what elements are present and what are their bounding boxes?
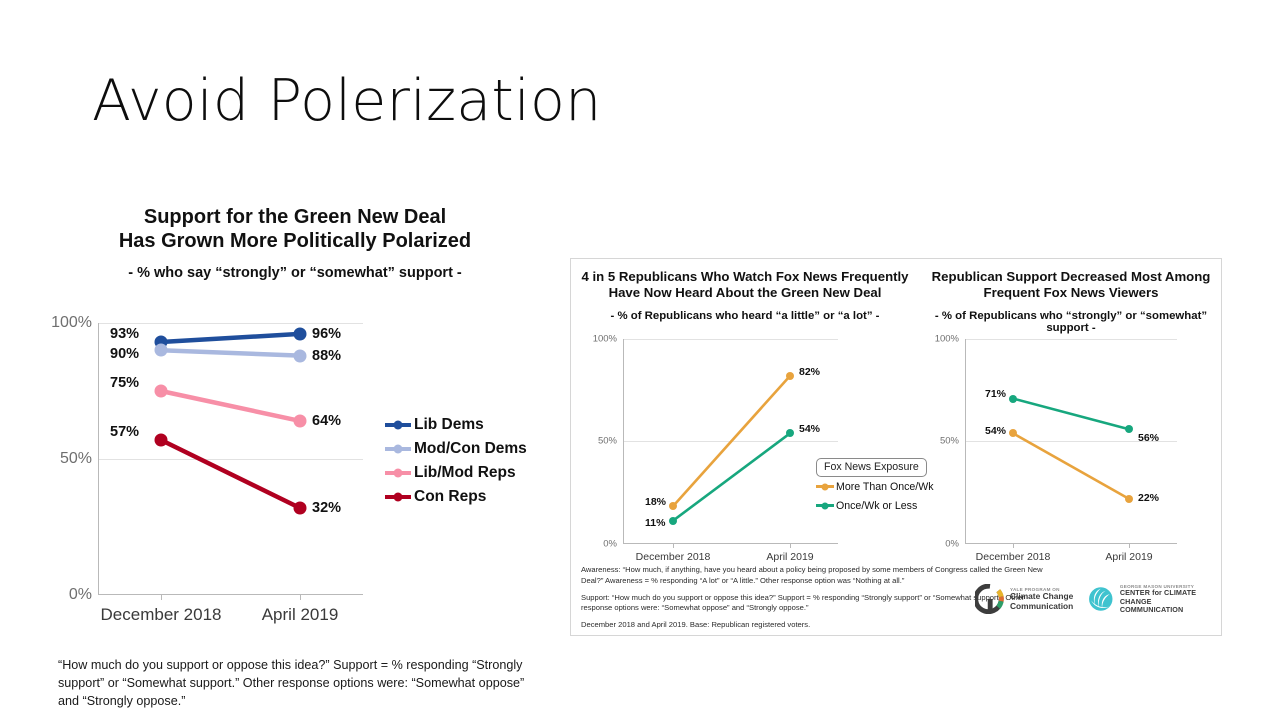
data-point [1009, 429, 1017, 437]
data-label: 22% [1138, 492, 1159, 504]
chart-legend: Lib Dems Mod/Con Dems Lib/Mod Reps Con R… [385, 413, 527, 509]
data-point [669, 517, 677, 525]
y-tick-label: 0% [38, 586, 92, 604]
chart-title-line1: 4 in 5 Republicans Who Watch Fox News Fr… [571, 269, 919, 285]
x-tick-label: April 2019 [220, 605, 380, 625]
y-tick-label: 0% [929, 539, 959, 550]
data-point [155, 433, 168, 446]
chart-title-line2: Have Now Heard About the Green New Deal [571, 285, 919, 301]
y-tick-label: 50% [587, 436, 617, 447]
x-tick-label: December 2018 [618, 551, 728, 563]
legend-label: Con Reps [414, 488, 486, 506]
legend-item-more-than-once-wk[interactable]: More Than Once/Wk [816, 477, 934, 496]
legend-item-mod-con-dems[interactable]: Mod/Con Dems [385, 437, 527, 461]
x-tick-apr2019 [300, 595, 301, 600]
data-label: 90% [110, 346, 139, 362]
legend-item-once-wk-or-less[interactable]: Once/Wk or Less [816, 496, 934, 515]
data-label: 32% [312, 500, 341, 516]
data-point [1125, 495, 1133, 503]
chart-legend-fox-news-exposure: Fox News Exposure More Than Once/Wk Once… [816, 457, 934, 515]
data-point [155, 385, 168, 398]
data-label: 93% [110, 326, 139, 342]
legend-label: Once/Wk or Less [836, 500, 917, 512]
legend-item-lib-dems[interactable]: Lib Dems [385, 413, 527, 437]
data-point [294, 327, 307, 340]
data-label: 71% [985, 388, 1006, 400]
data-point [294, 501, 307, 514]
chart-title: Support for the Green New Deal Has Grown… [60, 205, 530, 254]
legend-swatch-icon [385, 471, 411, 475]
legend-label: Lib Dems [414, 416, 484, 434]
legend-label: Mod/Con Dems [414, 440, 527, 458]
chart-title: Republican Support Decreased Most Among … [919, 259, 1223, 301]
x-tick-dec2018 [161, 595, 162, 600]
data-label: 57% [110, 424, 139, 440]
y-tick-label: 50% [38, 450, 92, 468]
logo-yale-climate-change-communication: YALE PROGRAM ON Climate Change Communica… [975, 584, 1073, 614]
slide-canvas: Avoid Polerization Support for the Green… [0, 0, 1280, 720]
yale-circle-icon [975, 584, 1005, 614]
data-point [786, 372, 794, 380]
data-point [786, 429, 794, 437]
legend-item-lib-mod-reps[interactable]: Lib/Mod Reps [385, 461, 527, 485]
chart-title: 4 in 5 Republicans Who Watch Fox News Fr… [571, 259, 919, 301]
logo-text: YALE PROGRAM ON Climate Change Communica… [1010, 587, 1073, 612]
y-tick-label: 100% [38, 314, 92, 332]
data-label: 54% [985, 425, 1006, 437]
legend-item-con-reps[interactable]: Con Reps [385, 485, 527, 509]
legend-swatch-icon [385, 423, 411, 427]
infographic-panel: 4 in 5 Republicans Who Watch Fox News Fr… [570, 258, 1222, 636]
data-label: 88% [312, 348, 341, 364]
chart-support-fox-news: Republican Support Decreased Most Among … [919, 259, 1223, 559]
legend-title: Fox News Exposure [816, 458, 927, 477]
data-label: 56% [1138, 432, 1159, 444]
chart-title-line1: Support for the Green New Deal [60, 205, 530, 229]
legend-label: More Than Once/Wk [836, 481, 934, 493]
note-base: December 2018 and April 2019. Base: Repu… [581, 620, 1051, 631]
plot-area: 71% 56% 54% 22% 100% 50% 0% December 201… [965, 339, 1177, 544]
logo-group: YALE PROGRAM ON Climate Change Communica… [975, 584, 1221, 615]
data-point [669, 502, 677, 510]
series-lines [98, 323, 363, 595]
logo-line2: Communication [1010, 602, 1073, 612]
x-tick-label: April 2019 [735, 551, 845, 563]
data-point [294, 414, 307, 427]
chart-support-polarization: Support for the Green New Deal Has Grown… [40, 205, 560, 705]
y-tick-label: 50% [929, 436, 959, 447]
gmu-swirl-icon [1087, 584, 1115, 614]
data-label: 75% [110, 375, 139, 391]
legend-swatch-icon [385, 495, 411, 499]
x-tick-label: December 2018 [958, 551, 1068, 563]
y-tick-label: 100% [587, 334, 617, 345]
legend-label: Lib/Mod Reps [414, 464, 516, 482]
chart-awareness-fox-news: 4 in 5 Republicans Who Watch Fox News Fr… [571, 259, 919, 559]
logo-line2: COMMUNICATION [1120, 606, 1221, 614]
logo-text: GEORGE MASON UNIVERSITY CENTER for CLIMA… [1120, 584, 1221, 615]
chart-subtitle: - % of Republicans who heard “a little” … [571, 301, 919, 322]
data-label: 54% [799, 423, 820, 435]
data-label: 82% [799, 366, 820, 378]
data-label: 18% [645, 496, 666, 508]
chart-title-line2: Frequent Fox News Viewers [919, 285, 1223, 301]
logo-gmu-center-climate-change-communication: GEORGE MASON UNIVERSITY CENTER for CLIMA… [1087, 584, 1221, 615]
data-label: 64% [312, 413, 341, 429]
chart-title-line2: Has Grown More Politically Polarized [60, 229, 530, 253]
x-tick-label: December 2018 [81, 605, 241, 625]
chart-title-line1: Republican Support Decreased Most Among [919, 269, 1223, 285]
legend-swatch-icon [816, 504, 834, 507]
data-point [155, 344, 168, 357]
legend-swatch-icon [385, 447, 411, 451]
y-tick-label: 0% [587, 539, 617, 550]
legend-swatch-icon [816, 485, 834, 488]
data-label: 96% [312, 326, 341, 342]
data-label: 11% [645, 517, 665, 529]
data-point [294, 349, 307, 362]
logo-line1: CENTER for CLIMATE CHANGE [1120, 589, 1221, 606]
data-point [1125, 425, 1133, 433]
x-tick-label: April 2019 [1074, 551, 1184, 563]
chart-subtitle: - % of Republicans who “strongly” or “so… [919, 301, 1223, 334]
data-point [1009, 395, 1017, 403]
chart-subtitle: - % who say “strongly” or “somewhat” sup… [60, 265, 530, 281]
plot-area: 93% 96% 90% 88% 75% 64% 57% 32% 100% 50%… [98, 323, 363, 595]
y-tick-label: 100% [929, 334, 959, 345]
plot-area: 18% 82% 11% 54% 100% 50% 0% December 201… [623, 339, 838, 544]
chart-footnote: “How much do you support or oppose this … [58, 657, 548, 711]
page-title: Avoid Polerization [92, 68, 601, 134]
